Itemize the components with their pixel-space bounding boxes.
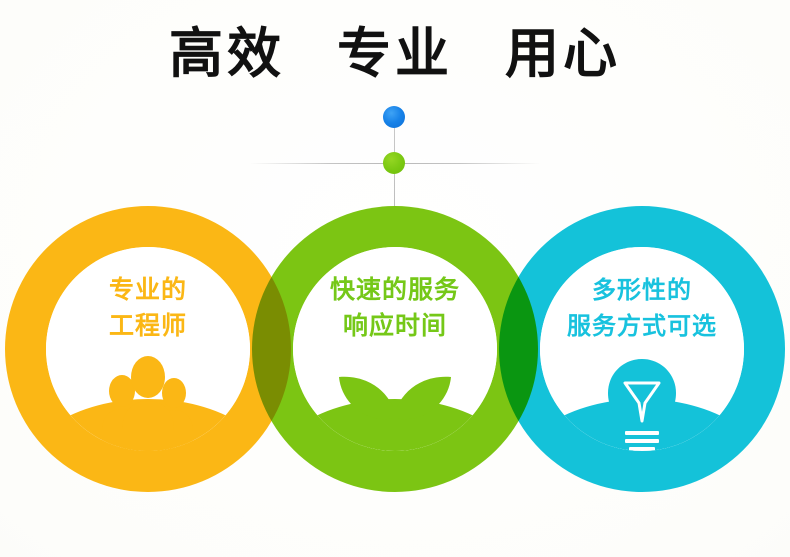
sprout-icon bbox=[293, 355, 497, 451]
people-icon bbox=[46, 355, 250, 451]
circle-3-line-2: 服务方式可选 bbox=[540, 308, 744, 344]
circle-1-line-1: 专业的 bbox=[46, 272, 250, 308]
circle-2-line-1: 快速的服务 bbox=[293, 272, 497, 308]
circle-3-text: 多形性的 服务方式可选 bbox=[540, 272, 744, 344]
circle-2-line-2: 响应时间 bbox=[293, 308, 497, 344]
circle-card-response-time[interactable]: 快速的服务 响应时间 bbox=[293, 247, 497, 451]
circle-1-text: 专业的 工程师 bbox=[46, 272, 250, 344]
lightbulb-icon bbox=[540, 355, 744, 451]
circle-card-service-modes[interactable]: 多形性的 服务方式可选 bbox=[540, 247, 744, 451]
poster-canvas: 高效专业用心 专业的 工程师 bbox=[0, 0, 790, 557]
circle-1-line-2: 工程师 bbox=[46, 308, 250, 344]
circle-3-line-1: 多形性的 bbox=[540, 272, 744, 308]
circle-card-engineers[interactable]: 专业的 工程师 bbox=[46, 247, 250, 451]
circle-2-text: 快速的服务 响应时间 bbox=[293, 272, 497, 344]
